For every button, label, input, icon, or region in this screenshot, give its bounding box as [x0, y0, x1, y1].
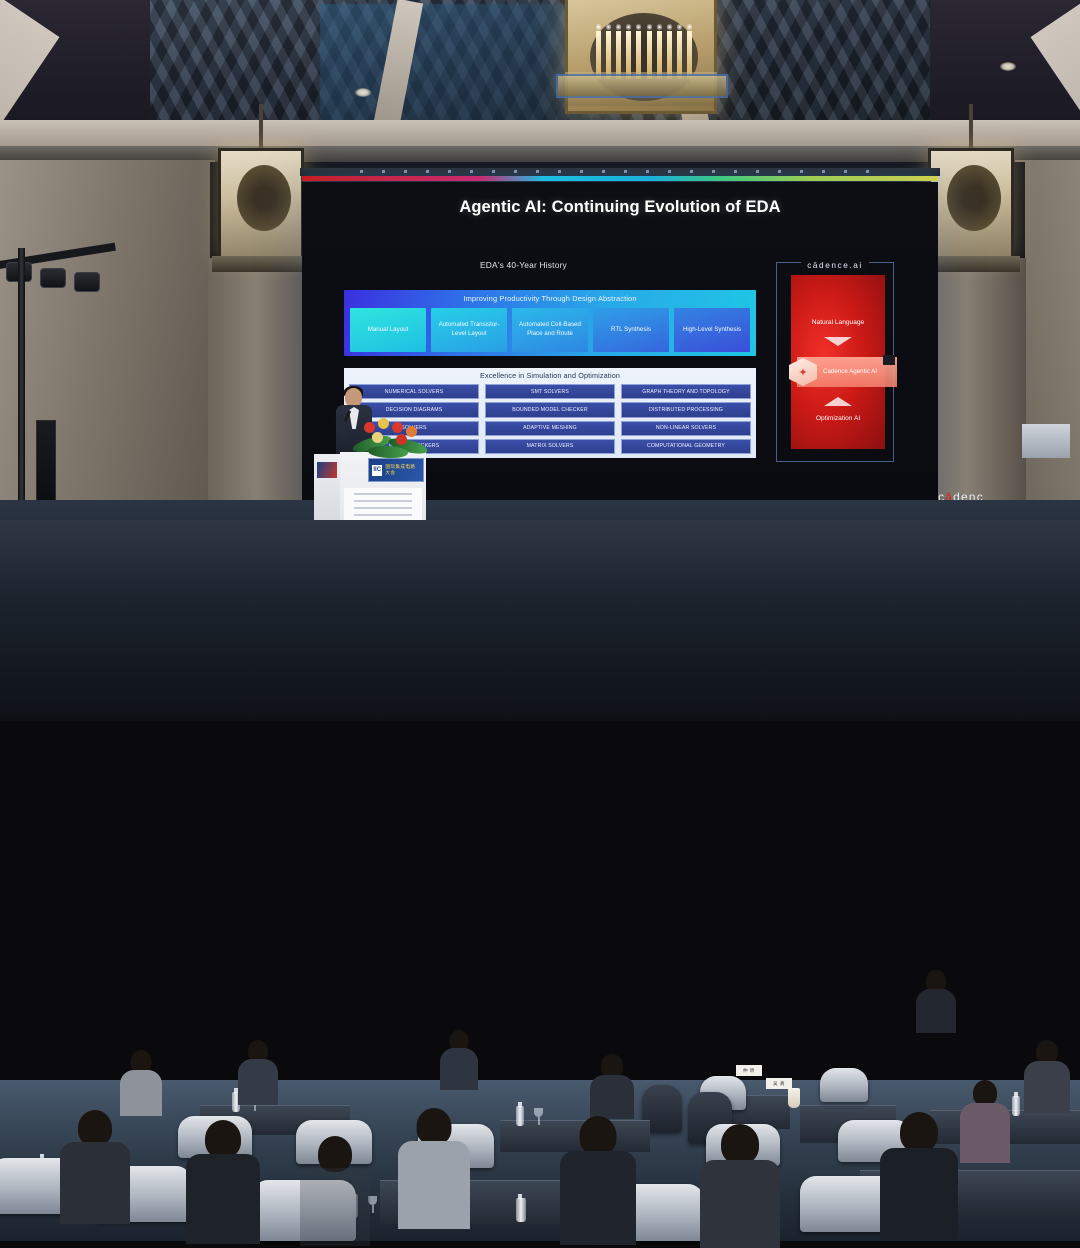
pillar-left: [208, 258, 316, 526]
audience-member: [440, 1030, 478, 1086]
cadence-ai-graphic: Natural Language ✦ Cadence Agentic AI Op…: [791, 275, 885, 449]
excellence-cell: NON-LINEAR SOLVERS: [621, 421, 751, 436]
audience-member: [916, 970, 956, 1030]
pa-speaker: [36, 420, 56, 508]
agentic-ai-label: Cadence Agentic AI: [823, 368, 877, 376]
audience-member: [120, 1050, 162, 1112]
audience-area: 仲 昕 吴 真: [0, 520, 1080, 721]
wine-glass: [534, 1108, 543, 1125]
abstraction-stage-list: Manual Layout Automated Transistor-Level…: [350, 308, 750, 352]
audience-member: [700, 1124, 780, 1244]
audience-member: [186, 1120, 260, 1240]
abstraction-stage: Manual Layout: [350, 308, 426, 352]
optimization-ai-label: Optimization AI: [791, 415, 885, 422]
sparkle-icon: ✦: [789, 358, 817, 386]
water-bottle: [516, 1198, 526, 1222]
downlight: [355, 88, 371, 97]
abstraction-stage: RTL Synthesis: [593, 308, 669, 352]
side-monitor: [1022, 424, 1070, 458]
paper-cup: [788, 1088, 800, 1108]
conference-logo: IIC: [372, 465, 382, 476]
audience-member: [880, 1112, 958, 1237]
chip-connector: [883, 355, 895, 365]
audience-member: [60, 1110, 130, 1220]
water-bottle: [516, 1106, 524, 1126]
natural-language-label: Natural Language: [791, 319, 885, 326]
stage-light: [74, 272, 100, 292]
podium-side-logo: [317, 462, 337, 478]
ceiling-cornice: [0, 120, 1080, 146]
abstraction-stage: Automated Cell-Based Place and Route: [512, 308, 588, 352]
stage-light-rail: [300, 168, 940, 176]
excellence-column: GRAPH THEORY AND TOPOLOGY DISTRIBUTED PR…: [621, 384, 751, 454]
conference-banner-text: 国际集成电路大会: [385, 464, 420, 476]
flower-arrangement: [352, 412, 430, 460]
audience-member: [1024, 1040, 1070, 1110]
audience-member: [398, 1108, 470, 1226]
cadence-ai-header: cādence.ai: [777, 255, 893, 273]
conference-room-scene: Agentic AI: Continuing Evolution of EDA …: [0, 0, 1080, 721]
water-bottle: [1012, 1096, 1020, 1116]
audience-member: [238, 1040, 278, 1100]
slide-section-label: EDA's 40-Year History: [480, 260, 567, 270]
agentic-ai-chip: ✦ Cadence Agentic AI: [797, 357, 897, 387]
excellence-cell: DISTRIBUTED PROCESSING: [621, 402, 751, 417]
lantern-right: [928, 148, 1014, 260]
chandelier-lower-fixture: [556, 74, 728, 98]
excellence-caption: Excellence in Simulation and Optimizatio…: [344, 371, 756, 380]
excellence-cell: BOUNDED MODEL CHECKER: [485, 402, 615, 417]
rainbow-led-strip: [302, 176, 938, 181]
cadence-ai-panel: cādence.ai Natural Language ✦ Cadence Ag…: [776, 262, 894, 462]
chevron-up-icon: [824, 397, 852, 406]
excellence-cell: ADAPTIVE MESHING: [485, 421, 615, 436]
audience-member: [300, 1136, 370, 1241]
abstraction-stage: High-Level Synthesis: [674, 308, 750, 352]
audience-member: [560, 1116, 636, 1241]
chair: [820, 1068, 868, 1102]
audience-member: [590, 1054, 634, 1114]
stage-light: [40, 268, 66, 288]
lantern-left: [218, 148, 304, 260]
excellence-cell: SMT SOLVERS: [485, 384, 615, 399]
audience-member: [960, 1080, 1010, 1160]
excellence-column: SMT SOLVERS BOUNDED MODEL CHECKER ADAPTI…: [485, 384, 615, 454]
excellence-cell: COMPUTATIONAL GEOMETRY: [621, 439, 751, 454]
chevron-down-icon: [824, 337, 852, 346]
ceiling: [0, 0, 1080, 172]
abstraction-stage: Automated Transistor-Level Layout: [431, 308, 507, 352]
abstraction-caption: Improving Productivity Through Design Ab…: [344, 294, 756, 303]
design-abstraction-panel: Improving Productivity Through Design Ab…: [344, 290, 756, 356]
conference-banner: IIC 国际集成电路大会: [368, 458, 424, 482]
excellence-cell: MATRIX SOLVERS: [485, 439, 615, 454]
slide-title: Agentic AI: Continuing Evolution of EDA: [302, 198, 938, 217]
name-card: 仲 昕: [736, 1065, 762, 1076]
excellence-cell: GRAPH THEORY AND TOPOLOGY: [621, 384, 751, 399]
downlight: [1000, 62, 1016, 71]
